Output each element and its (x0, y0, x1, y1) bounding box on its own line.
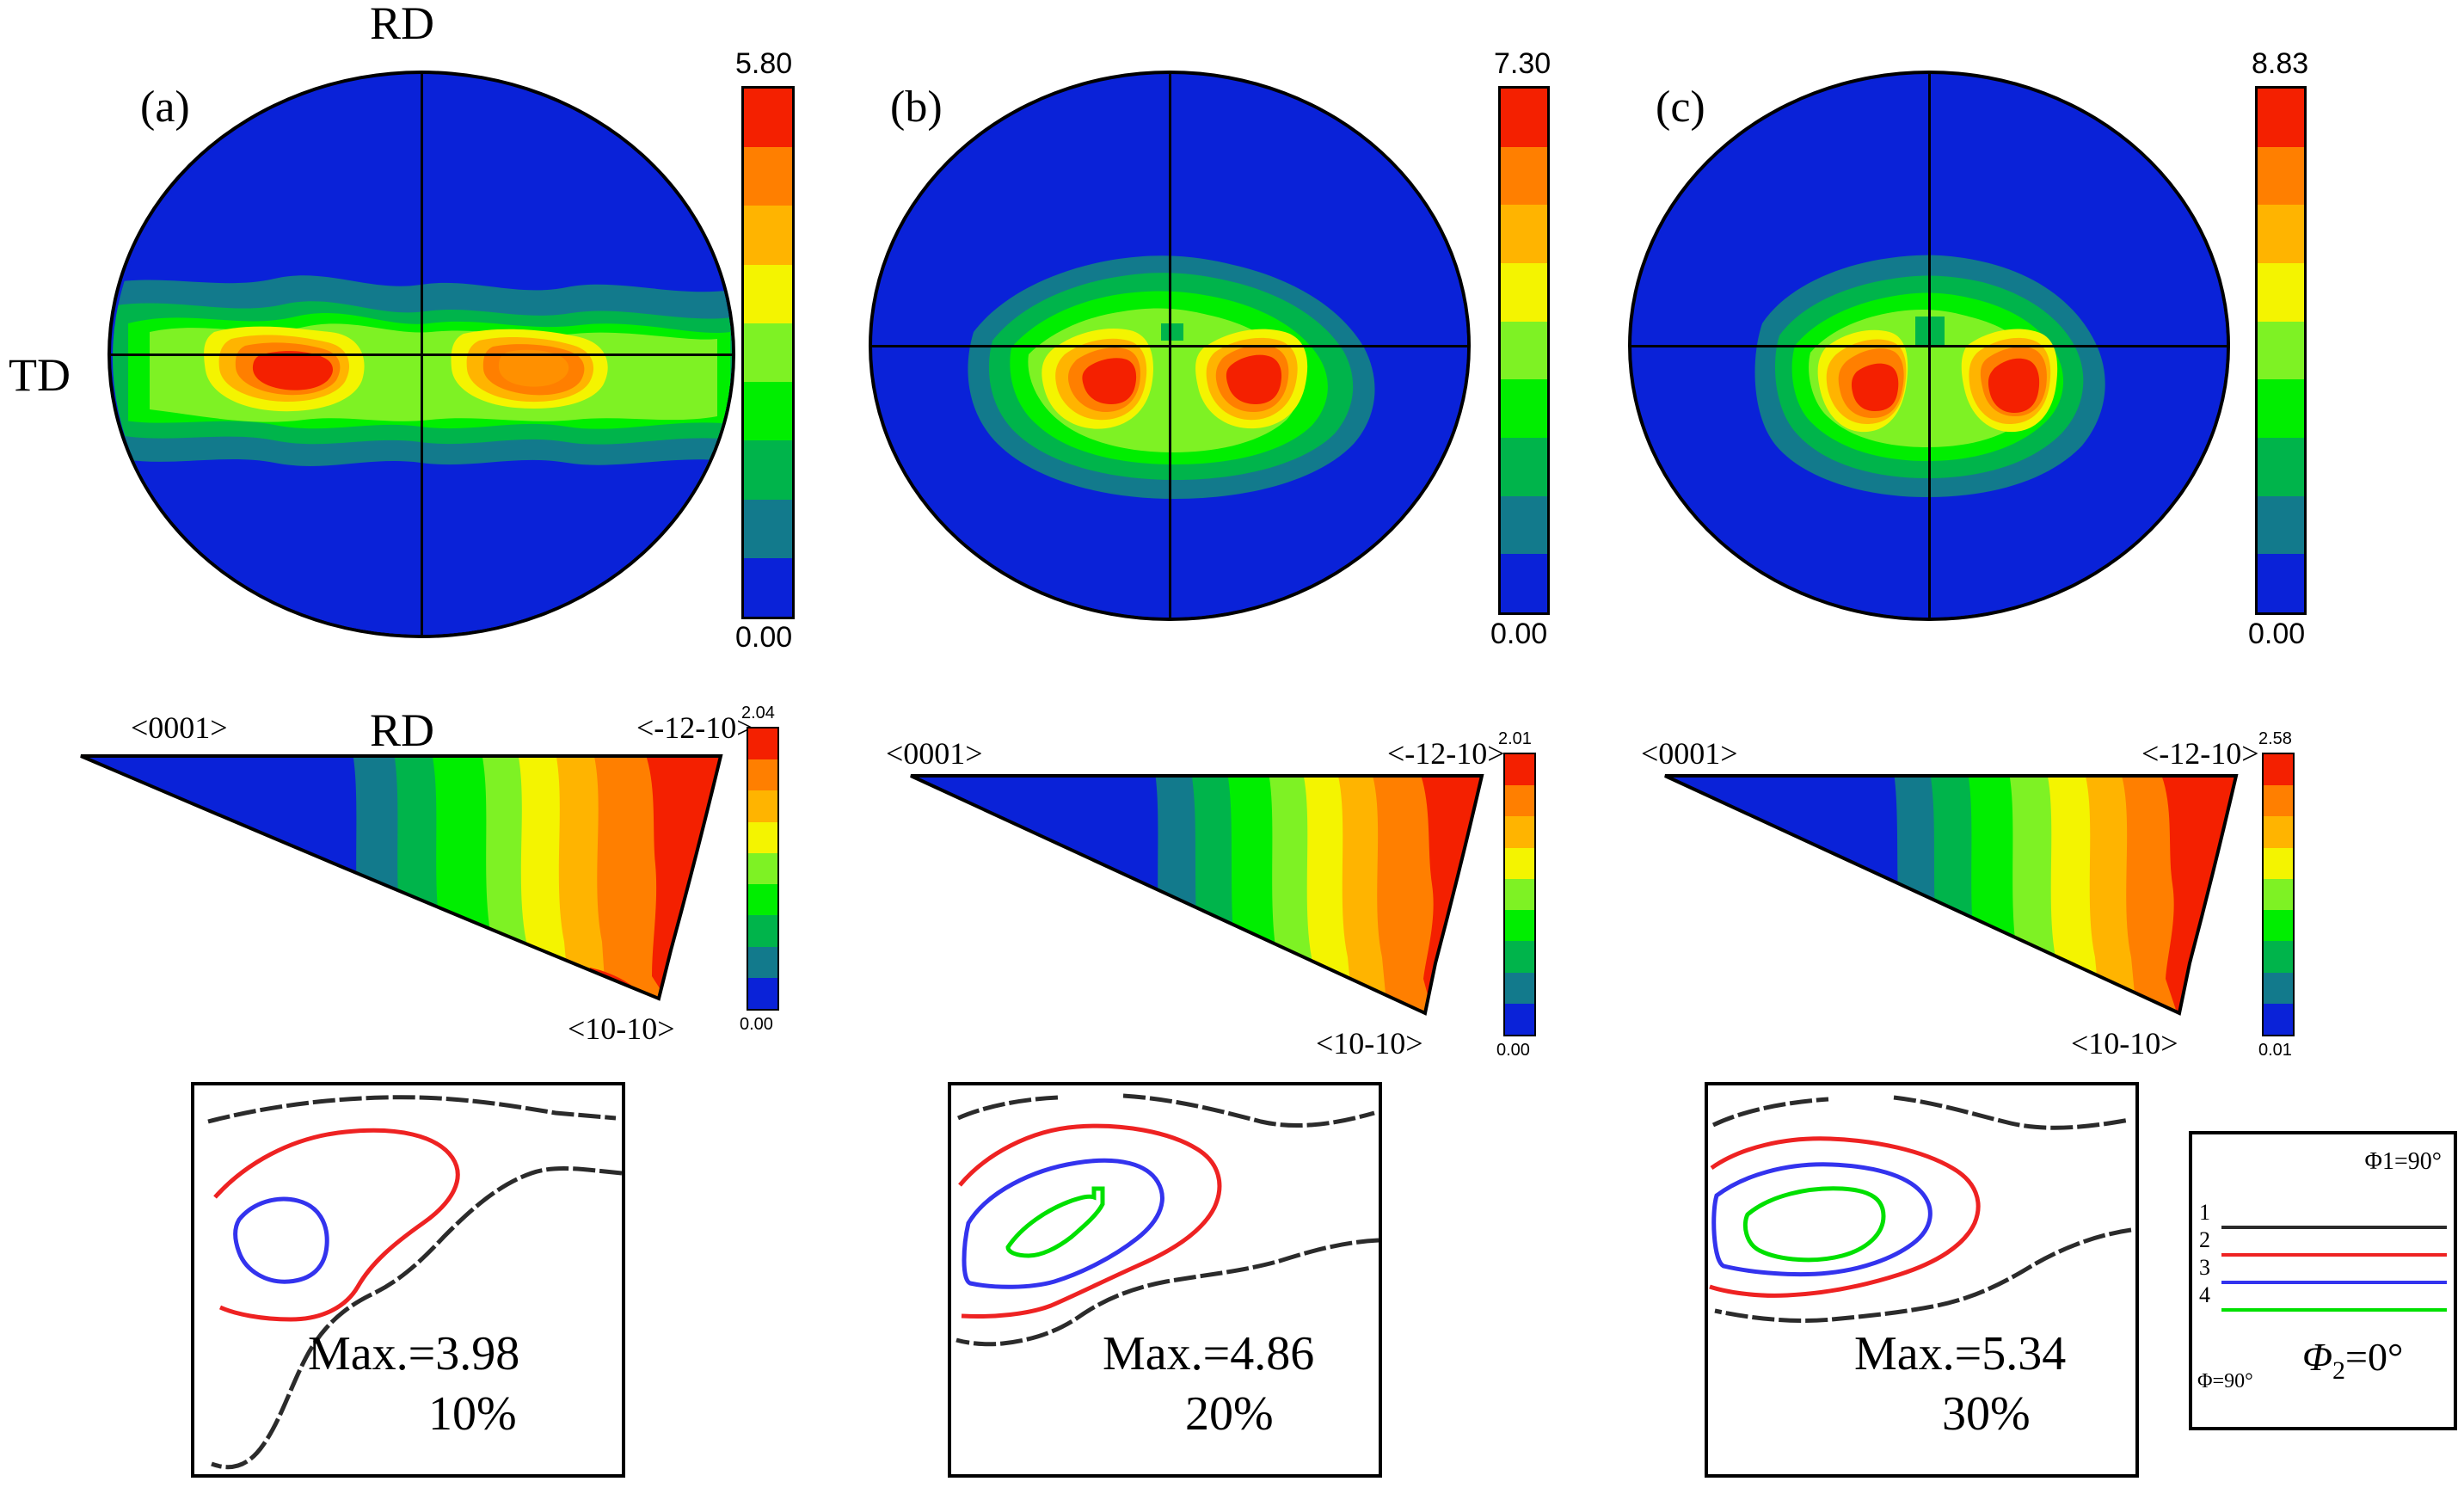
ipf-b-corner-0001: <0001> (886, 735, 983, 772)
ipf-b-colorbar-max: 2.01 (1498, 729, 1532, 749)
ipf-b-corner-1210: <-12-10> (1387, 735, 1505, 772)
pole-figure-b-colorbar-min: 0.00 (1490, 618, 1547, 651)
odf-legend-phi2-value: =0° (2345, 1335, 2403, 1379)
pole-figure-a (108, 71, 735, 638)
ipf-b-colorbar-min: 0.00 (1496, 1041, 1530, 1060)
odf-c-contours (1708, 1085, 2135, 1474)
odf-legend-phi2-label: Φ2=0° (2302, 1334, 2403, 1386)
odf-a-contours (194, 1085, 622, 1474)
odf-legend-level-3-line (2221, 1281, 2447, 1284)
odf-legend-level-4-number: 4 (2199, 1282, 2210, 1308)
odf-legend-level-4-line (2221, 1308, 2447, 1312)
pole-figure-td-label: TD (9, 348, 71, 402)
odf-legend-level-2-number: 2 (2199, 1227, 2210, 1253)
odf-c-max-label: Max.=5.34 (1854, 1326, 2066, 1381)
ipf-a-colorbar-max: 2.04 (741, 704, 775, 723)
odf-b-percent-label: 20% (1185, 1386, 1274, 1442)
ipf-a-colorbar-min: 0.00 (740, 1015, 773, 1035)
ipf-b-contours (907, 772, 1509, 1030)
odf-a-max-label: Max.=3.98 (308, 1326, 519, 1381)
ipf-a-corner-1210: <-12-10> (636, 710, 754, 746)
pole-figure-a-colorbar-max: 5.80 (735, 47, 792, 81)
odf-legend-level-3-number: 3 (2199, 1255, 2210, 1281)
pole-figure-b-colorbar-max: 7.30 (1494, 47, 1551, 81)
pole-figure-a-colorbar-min: 0.00 (735, 621, 792, 655)
odf-legend-phi-label: Φ=90° (2197, 1370, 2253, 1393)
pole-figure-c-colorbar-max: 8.83 (2252, 47, 2308, 81)
odf-legend-level-1-line (2221, 1226, 2447, 1229)
ipf-c-colorbar-min: 0.01 (2258, 1041, 2292, 1060)
pole-figure-b-contours (872, 74, 1471, 621)
odf-legend-phi1-label: Φ1=90° (2365, 1148, 2442, 1176)
odf-b-contours (951, 1085, 1379, 1474)
odf-section-b: Max.=4.86 20% (948, 1082, 1382, 1478)
odf-section-c: Max.=5.34 30% (1705, 1082, 2139, 1478)
ipf-b-colorbar (1503, 753, 1536, 1036)
ipf-b-corner-1010: <10-10> (1316, 1025, 1423, 1061)
pole-figure-a-colorbar (741, 86, 795, 619)
pole-figure-rd-label: RD (370, 0, 434, 50)
ipf-a-colorbar (747, 727, 779, 1011)
odf-legend-level-1-number: 1 (2199, 1200, 2210, 1226)
odf-legend-level-2-line (2221, 1253, 2447, 1257)
pole-figure-a-contours (111, 74, 735, 638)
odf-c-percent-label: 30% (1942, 1386, 2031, 1442)
ipf-a-contours (77, 753, 748, 1019)
pole-figure-c-contours (1631, 74, 2230, 621)
ipf-c-colorbar (2262, 753, 2295, 1036)
odf-legend-phi2-subscript: 2 (2332, 1356, 2345, 1385)
ipf-b (907, 772, 1509, 1030)
ipf-a (77, 753, 748, 1019)
pole-figure-a-horizontal-axis (111, 353, 732, 356)
pole-figure-c (1628, 71, 2230, 621)
pole-figure-c-colorbar-min: 0.00 (2248, 618, 2305, 651)
ipf-a-corner-0001: <0001> (131, 710, 228, 746)
ipf-a-rd-label: RD (370, 704, 434, 757)
ipf-c-corner-1010: <10-10> (2071, 1025, 2178, 1061)
odf-a-percent-label: 10% (428, 1386, 517, 1442)
ipf-c (1662, 772, 2264, 1030)
ipf-c-corner-0001: <0001> (1641, 735, 1738, 772)
odf-legend-phi2-symbol: Φ (2302, 1335, 2332, 1379)
pole-figure-c-horizontal-axis (1631, 345, 2227, 347)
ipf-c-colorbar-max: 2.58 (2258, 729, 2292, 749)
pole-figure-b-horizontal-axis (872, 345, 1467, 347)
ipf-c-corner-1210: <-12-10> (2141, 735, 2259, 772)
odf-b-max-label: Max.=4.86 (1103, 1326, 1314, 1381)
pole-figure-b-colorbar (1498, 86, 1550, 615)
pole-figure-b (869, 71, 1471, 621)
pole-figure-c-colorbar (2255, 86, 2307, 615)
ipf-c-contours (1662, 772, 2264, 1030)
odf-section-a: Max.=3.98 10% (191, 1082, 625, 1478)
odf-legend-box: Φ1=90° 1 2 3 4 Φ2=0° Φ=90° (2189, 1131, 2457, 1430)
